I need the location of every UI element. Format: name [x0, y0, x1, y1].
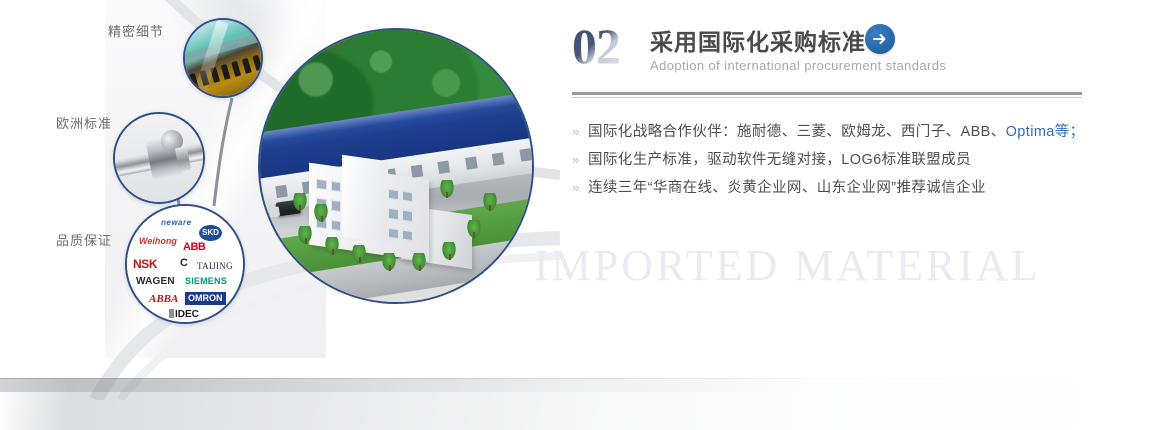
bottom-divider: [0, 378, 1150, 379]
bullet-text-main: 国际化战略合作伙伴：施耐德、三菱、欧姆龙、西门子、ABB、: [588, 124, 1006, 140]
promo-banner: 精密细节 欧洲标准 品质保证 neware SKD Weihong ABB NS…: [0, 0, 1150, 430]
logo-smc-c: C: [180, 258, 188, 269]
watermark-text: IMPORTED MATERIAL: [534, 240, 1041, 291]
section-number: 02: [572, 21, 620, 71]
section-title-en: Adoption of international procurement st…: [650, 58, 946, 73]
logo-taijing: TAIJING: [197, 262, 233, 271]
logo-skd: SKD: [199, 225, 222, 241]
logo-weihong: Weihong: [139, 237, 177, 246]
logo-omron: OMRON: [185, 292, 226, 305]
bullet-chevron-icon: »: [572, 180, 588, 195]
tree: [352, 245, 366, 263]
logo-abb: ABB: [183, 242, 205, 253]
factory-entrance-tower: [342, 155, 388, 243]
logo-wagen: WAGEN: [136, 277, 175, 287]
label-precision-detail: 精密细节: [108, 21, 164, 40]
tree: [293, 193, 307, 211]
bullet-list: » 国际化战略合作伙伴：施耐德、三菱、欧姆龙、西门子、ABB、Optima等； …: [572, 120, 1102, 204]
tree: [382, 253, 396, 271]
bullet-chevron-icon: »: [572, 152, 588, 167]
tree: [412, 253, 426, 271]
logo-idec-text: IDEC: [175, 309, 199, 320]
tree: [325, 237, 339, 255]
list-item: » 国际化战略合作伙伴：施耐德、三菱、欧姆龙、西门子、ABB、Optima等；: [572, 120, 1102, 148]
bullet-chevron-icon: »: [572, 124, 588, 139]
section-title-zh: 采用国际化采购标准: [650, 23, 866, 57]
tree: [442, 242, 456, 260]
logo-nsk: NSK: [133, 258, 157, 270]
section-header: 02 采用国际化采购标准 Adoption of international p…: [572, 18, 1102, 90]
bullet-text-highlight: Optima等；: [1006, 124, 1085, 140]
tree: [314, 204, 328, 222]
header-divider-thin: [572, 97, 1082, 98]
logo-siemens: SIEMENS: [185, 277, 227, 286]
bottom-shadow-sweep: [0, 378, 1150, 430]
gear-macro-photo-bubble: [183, 18, 263, 98]
label-quality-assurance: 品质保证: [56, 230, 112, 249]
tree: [467, 220, 481, 238]
list-item: » 国际化生产标准，驱动软件无缝对接，LOG6标准联盟成员: [572, 148, 1102, 176]
logo-idec: IDEC: [169, 309, 199, 320]
bullet-text-main: 连续三年“华商在线、炎黄企业网、山东企业网”推荐诚信企业: [588, 180, 986, 196]
logo-abba: ABBA: [149, 294, 178, 305]
tree: [298, 226, 312, 244]
header-divider-thick: [572, 92, 1082, 95]
ball-screw-photo-bubble: [113, 112, 205, 204]
content-column: 02 采用国际化采购标准 Adoption of international p…: [572, 18, 1102, 204]
bullet-text: 国际化生产标准，驱动软件无缝对接，LOG6标准联盟成员: [588, 148, 971, 169]
factory-aerial-photo: [258, 28, 534, 304]
bullet-text: 连续三年“华商在线、炎黄企业网、山东企业网”推荐诚信企业: [588, 176, 986, 197]
brand-logos-bubble: neware SKD Weihong ABB NSK SM C TAIJING …: [125, 204, 245, 324]
bullet-text: 国际化战略合作伙伴：施耐德、三菱、欧姆龙、西门子、ABB、Optima等；: [588, 120, 1085, 141]
list-item: » 连续三年“华商在线、炎黄企业网、山东企业网”推荐诚信企业: [572, 176, 1102, 204]
bullet-text-main: 国际化生产标准，驱动软件无缝对接，LOG6标准联盟成员: [588, 152, 971, 168]
logo-neware: neware: [161, 219, 192, 227]
label-european-standard: 欧洲标准: [56, 113, 112, 132]
arrow-right-icon[interactable]: [865, 24, 895, 54]
tree: [483, 193, 497, 211]
tree: [440, 180, 454, 198]
